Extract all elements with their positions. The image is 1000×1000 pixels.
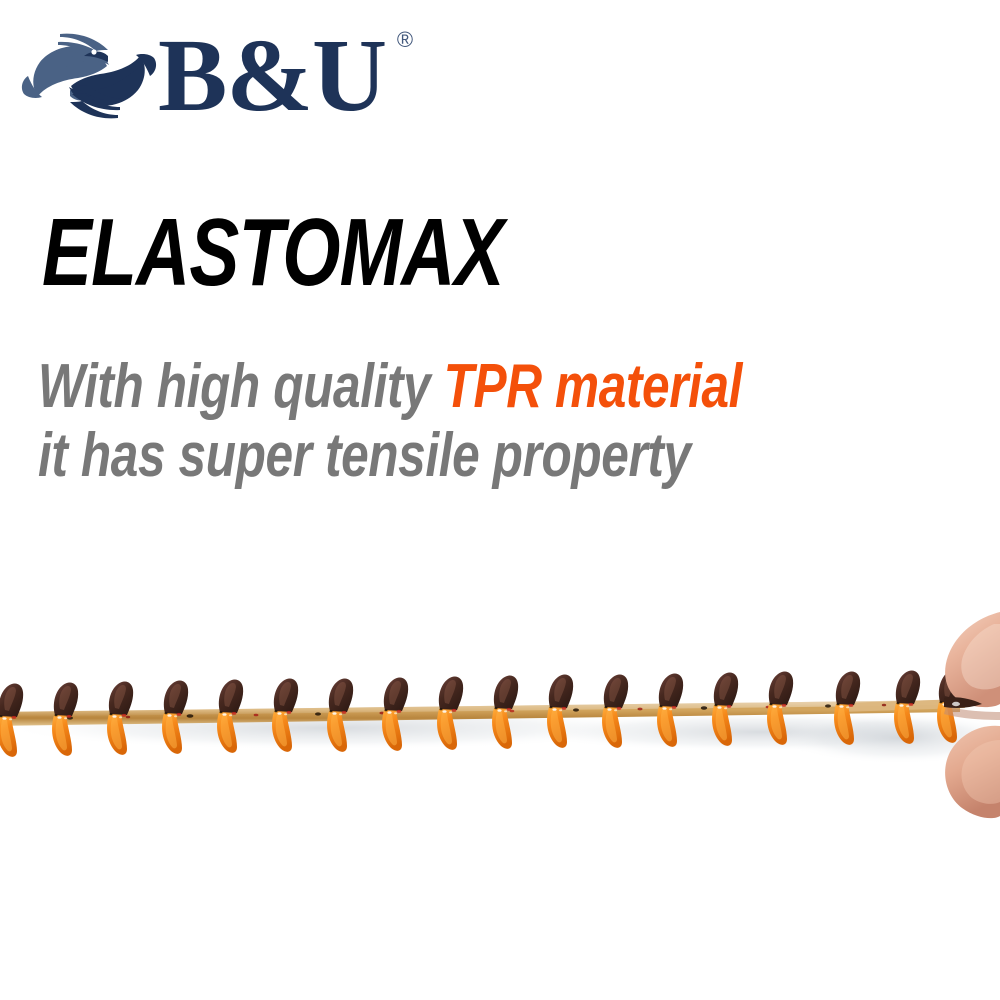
product-tagline: With high quality TPR material it has su… (38, 352, 742, 491)
product-headline: ELASTOMAX (42, 205, 504, 301)
two-fish-circular-logo-icon (14, 16, 164, 136)
brand-wordmark-text: B&U (158, 18, 386, 133)
marketing-banner: B&U ® ELASTOMAX With high quality TPR ma… (0, 0, 1000, 1000)
tagline-line-1-prefix: With high quality (38, 352, 444, 421)
brand-wordmark: B&U ® (158, 27, 386, 126)
registered-trademark-symbol: ® (397, 29, 412, 51)
tagline-line-2: it has super tensile property (38, 421, 742, 490)
brand-header: B&U ® (14, 16, 386, 136)
tagline-accent-material: TPR material (444, 352, 742, 421)
hand-fingers (944, 612, 1000, 818)
tagline-line-1: With high quality TPR material (38, 352, 742, 421)
product-photo-stretched-lure-strip (0, 560, 1000, 1000)
